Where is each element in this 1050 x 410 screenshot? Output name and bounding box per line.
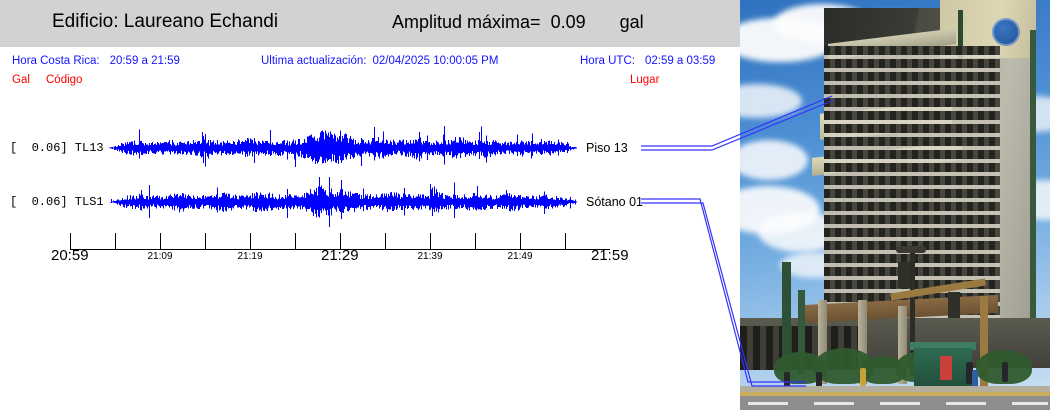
- time-tick-label: 21:39: [418, 251, 443, 262]
- time-tick-label: 21:49: [508, 251, 533, 262]
- street-lamp-head: [896, 246, 926, 253]
- road-marking: [880, 402, 920, 405]
- trace-label-tl13: [ 0.06] TL13: [10, 141, 104, 155]
- page-title: Edificio: Laureano Echandi: [52, 11, 278, 33]
- kiosk-poster: [940, 356, 952, 380]
- app-root: Edificio: Laureano Echandi Amplitud máxi…: [0, 0, 1050, 410]
- traffic-light-pole: [980, 296, 988, 400]
- window-band: [824, 189, 1000, 198]
- window-band: [824, 59, 1000, 68]
- local-time-value: 20:59 a 21:59: [110, 55, 180, 67]
- traffic-light-icon: [898, 262, 910, 288]
- time-tick-label: 21:29: [321, 247, 359, 264]
- window-band: [824, 215, 1000, 224]
- road-marking: [946, 402, 986, 405]
- traffic-light-icon: [948, 292, 960, 318]
- window-band: [824, 124, 1000, 133]
- trace-label-tls1: [ 0.06] TLS1: [10, 195, 104, 209]
- window-band: [824, 202, 1000, 211]
- max-amplitude-value: 0.09: [551, 12, 586, 32]
- road-marking: [814, 402, 854, 405]
- local-time-label: Hora Costa Rica:: [12, 55, 100, 67]
- pedestrian: [860, 368, 866, 386]
- pedestrian: [1002, 362, 1008, 382]
- road-marking: [1012, 402, 1048, 405]
- time-tick-label: 21:59: [591, 247, 629, 264]
- trace-place-piso-13: Piso 13: [586, 141, 628, 155]
- trace-place-sotano-01: Sótano 01: [586, 195, 643, 209]
- last-update-value: 02/04/2025 10:00:05 PM: [372, 55, 498, 67]
- seismogram-panel: Edificio: Laureano Echandi Amplitud máxi…: [0, 0, 740, 410]
- window-band: [824, 176, 1000, 185]
- waveform-trace-tls1: [108, 176, 578, 228]
- last-update-label: Ultima actualización:: [261, 55, 366, 67]
- window-band: [824, 111, 1000, 120]
- column-header-codigo: Código: [46, 74, 82, 86]
- utc-time-row: Hora UTC:02:59 a 03:59: [580, 55, 715, 67]
- time-tick-label: 21:19: [238, 251, 263, 262]
- window-band: [824, 150, 1000, 159]
- window-band: [824, 163, 1000, 172]
- window-band: [824, 137, 1000, 146]
- building-photo: [740, 0, 1050, 410]
- window-band: [824, 98, 1000, 107]
- waveform-svg-tl13: [108, 122, 578, 174]
- utc-time-value: 02:59 a 03:59: [645, 55, 715, 67]
- max-amplitude-readout: Amplitud máxima=0.09gal: [392, 12, 644, 33]
- time-tick-label: 20:59: [51, 247, 89, 264]
- time-tick-label: 21:09: [148, 251, 173, 262]
- road-marking: [748, 402, 788, 405]
- column-header-gal: Gal: [12, 74, 30, 86]
- window-band: [824, 85, 1000, 94]
- building-logo-icon: [992, 18, 1020, 46]
- max-amplitude-unit: gal: [620, 12, 644, 32]
- waveform-trace-tl13: [108, 122, 578, 174]
- waveform-svg-tls1: [108, 176, 578, 228]
- column-header-lugar: Lugar: [630, 74, 659, 86]
- last-update-row: Ultima actualización:02/04/2025 10:00:05…: [261, 55, 498, 67]
- window-band: [824, 46, 1000, 55]
- window-band: [824, 72, 1000, 81]
- window-band: [824, 228, 1000, 237]
- title-bar: Edificio: Laureano Echandi Amplitud máxi…: [0, 0, 740, 47]
- utc-time-label: Hora UTC:: [580, 55, 635, 67]
- tower-green-edge: [1030, 30, 1036, 336]
- local-time-row: Hora Costa Rica:20:59 a 21:59: [12, 55, 180, 67]
- time-axis: 20:5921:0921:1921:2921:3921:4921:59: [70, 232, 610, 268]
- max-amplitude-label: Amplitud máxima=: [392, 12, 541, 32]
